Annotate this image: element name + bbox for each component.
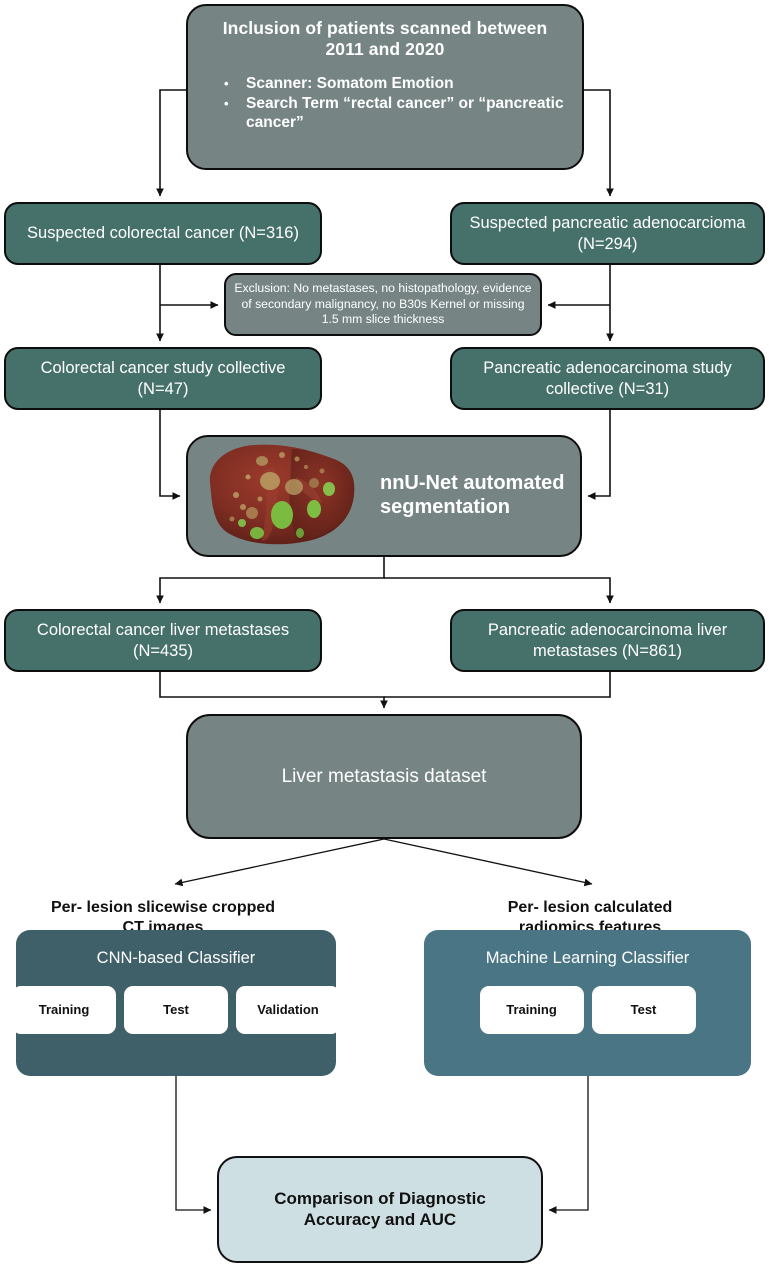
cnn-classifier-title: CNN-based Classifier [97,948,256,968]
node-suspected-colorectal-cancer: Suspected colorectal cancer (N=316) [4,202,322,265]
nnunet-label: nnU-Net automated segmentation [380,472,580,519]
node-label: Colorectal cancer liver metastases (N=43… [14,620,312,660]
flowchart-canvas: Inclusion of patients scanned between 20… [0,0,769,1269]
node-pancreatic-liver-metastases: Pancreatic adenocarcinoma liver metastas… [450,609,765,672]
inclusion-bullet-list: • Scanner: Somatom Emotion • Search Term… [206,75,564,134]
node-colorectal-liver-metastases: Colorectal cancer liver metastases (N=43… [4,609,322,672]
node-label: Suspected pancreatic adenocarcioma (N=29… [462,213,753,253]
node-inclusion-criteria: Inclusion of patients scanned between 20… [186,4,584,170]
ml-split-chips: Training Test [480,986,696,1034]
node-pancreatic-study-collective: Pancreatic adenocarcinoma study collecti… [450,347,765,410]
node-machine-learning-classifier: Machine Learning Classifier Training Tes… [424,930,751,1076]
chip-test: Test [124,986,228,1034]
node-comparison-diagnostic-accuracy: Comparison of Diagnostic Accuracy and AU… [217,1156,543,1263]
node-label: Colorectal cancer study collective (N=47… [14,358,312,398]
chip-test: Test [592,986,696,1034]
chip-training: Training [480,986,584,1034]
node-label: Exclusion: No metastases, no histopathol… [234,281,532,328]
ml-classifier-title: Machine Learning Classifier [486,948,690,968]
cnn-split-chips: Training Test Validation [12,986,340,1034]
bullet-dot-icon: • [224,75,246,94]
chip-validation: Validation [236,986,340,1034]
liver-render-svg [196,437,366,555]
inclusion-bullet-1: Search Term “rectal cancer” or “pancreat… [246,95,564,133]
bullet-dot-icon: • [224,95,246,114]
list-item: • Search Term “rectal cancer” or “pancre… [224,95,564,133]
node-cnn-classifier: CNN-based Classifier Training Test Valid… [16,930,336,1076]
node-suspected-pancreatic-adenocarcinoma: Suspected pancreatic adenocarcioma (N=29… [450,202,765,265]
list-item: • Scanner: Somatom Emotion [224,75,564,94]
inclusion-bullet-0: Scanner: Somatom Emotion [246,75,564,94]
node-nnunet-segmentation: nnU-Net automated segmentation [186,435,582,557]
node-liver-metastasis-dataset: Liver metastasis dataset [186,714,582,839]
chip-training: Training [12,986,116,1034]
node-label: Liver metastasis dataset [282,765,487,788]
inclusion-title: Inclusion of patients scanned between 20… [206,18,564,61]
node-label: Pancreatic adenocarcinoma liver metastas… [462,620,753,660]
node-colorectal-study-collective: Colorectal cancer study collective (N=47… [4,347,322,410]
node-label: Comparison of Diagnostic Accuracy and AU… [237,1189,523,1230]
node-label: Suspected colorectal cancer (N=316) [27,223,299,243]
liver-segmentation-image [196,437,366,555]
node-exclusion-criteria: Exclusion: No metastases, no histopathol… [224,273,542,336]
node-label: Pancreatic adenocarcinoma study collecti… [462,358,753,398]
